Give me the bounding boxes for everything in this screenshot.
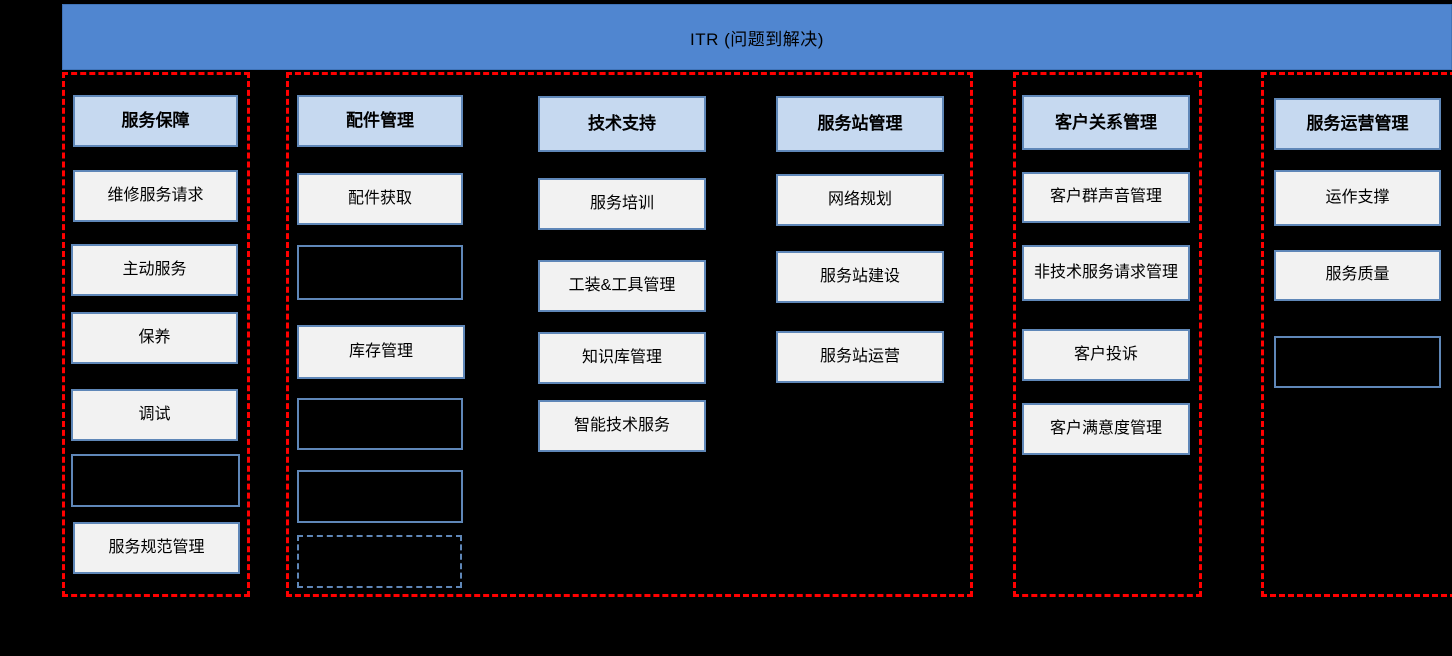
column-header-col-technical-support[interactable]: 技术支持: [538, 96, 706, 152]
process-box[interactable]: 服务站运营: [776, 331, 944, 383]
column-header-label: 服务保障: [79, 111, 232, 131]
process-box-label: 工装&工具管理: [544, 277, 700, 295]
process-box-label: 智能技术服务: [544, 417, 700, 435]
process-box[interactable]: 服务规范管理: [73, 522, 240, 574]
empty-process-box: [1274, 336, 1441, 388]
column-header-col-service-operation[interactable]: 服务运营管理: [1274, 98, 1441, 150]
process-box-label: 服务培训: [544, 195, 700, 213]
process-box[interactable]: 主动服务: [71, 244, 238, 296]
process-box-label: 服务站建设: [782, 268, 938, 286]
process-box-label: 服务质量: [1280, 266, 1435, 284]
process-box[interactable]: 保养: [71, 312, 238, 364]
column-header-col-service-guarantee[interactable]: 服务保障: [73, 95, 238, 147]
empty-process-box: [297, 470, 463, 523]
process-box[interactable]: 智能技术服务: [538, 400, 706, 452]
process-box[interactable]: 配件获取: [297, 173, 463, 225]
banner-label: ITR (问题到解决): [690, 25, 824, 50]
column-header-col-parts-management[interactable]: 配件管理: [297, 95, 463, 147]
process-box-label: 运作支撑: [1280, 189, 1435, 207]
group-service-operation: [1261, 72, 1452, 597]
process-box[interactable]: 客户满意度管理: [1022, 403, 1190, 455]
process-box-label: 库存管理: [303, 343, 459, 361]
process-box[interactable]: 网络规划: [776, 174, 944, 226]
column-header-col-service-station[interactable]: 服务站管理: [776, 96, 944, 152]
process-box-label: 配件获取: [303, 190, 457, 208]
column-header-col-customer-relationship[interactable]: 客户关系管理: [1022, 95, 1190, 150]
process-box[interactable]: 服务站建设: [776, 251, 944, 303]
process-box[interactable]: 调试: [71, 389, 238, 441]
process-box[interactable]: 运作支撑: [1274, 170, 1441, 226]
empty-process-box: [71, 454, 240, 507]
process-box-label: 保养: [77, 329, 232, 347]
column-header-label: 技术支持: [544, 114, 700, 134]
process-box-label: 维修服务请求: [79, 187, 232, 205]
process-box[interactable]: 服务质量: [1274, 250, 1441, 301]
column-header-label: 配件管理: [303, 111, 457, 131]
process-box-label: 网络规划: [782, 191, 938, 209]
process-box-label: 服务规范管理: [79, 539, 234, 557]
process-box-label: 调试: [77, 406, 232, 424]
process-box-label: 主动服务: [77, 261, 232, 279]
column-header-label: 服务站管理: [782, 114, 938, 134]
process-box-label: 客户投诉: [1028, 346, 1184, 364]
empty-process-box: [297, 398, 463, 450]
process-box[interactable]: 知识库管理: [538, 332, 706, 384]
process-box[interactable]: 库存管理: [297, 325, 465, 379]
empty-process-box: [297, 245, 463, 300]
column-header-label: 客户关系管理: [1028, 113, 1184, 133]
process-box[interactable]: 客户群声音管理: [1022, 172, 1190, 223]
process-box-label: 客户满意度管理: [1028, 420, 1184, 438]
process-box[interactable]: 服务培训: [538, 178, 706, 230]
column-header-label: 服务运营管理: [1280, 114, 1435, 134]
process-box[interactable]: 非技术服务请求管理: [1022, 245, 1190, 301]
diagram-canvas: ITR (问题到解决) 服务保障维修服务请求主动服务保养调试服务规范管理配件管理…: [0, 0, 1452, 656]
process-box[interactable]: 客户投诉: [1022, 329, 1190, 381]
process-box-label: 服务站运营: [782, 348, 938, 366]
process-box[interactable]: 工装&工具管理: [538, 260, 706, 312]
empty-process-box: [297, 535, 462, 588]
itr-banner-title: ITR (问题到解决): [62, 4, 1452, 70]
process-box-label: 客户群声音管理: [1028, 188, 1184, 206]
process-box-label: 非技术服务请求管理: [1028, 264, 1184, 282]
process-box[interactable]: 维修服务请求: [73, 170, 238, 222]
process-box-label: 知识库管理: [544, 349, 700, 367]
